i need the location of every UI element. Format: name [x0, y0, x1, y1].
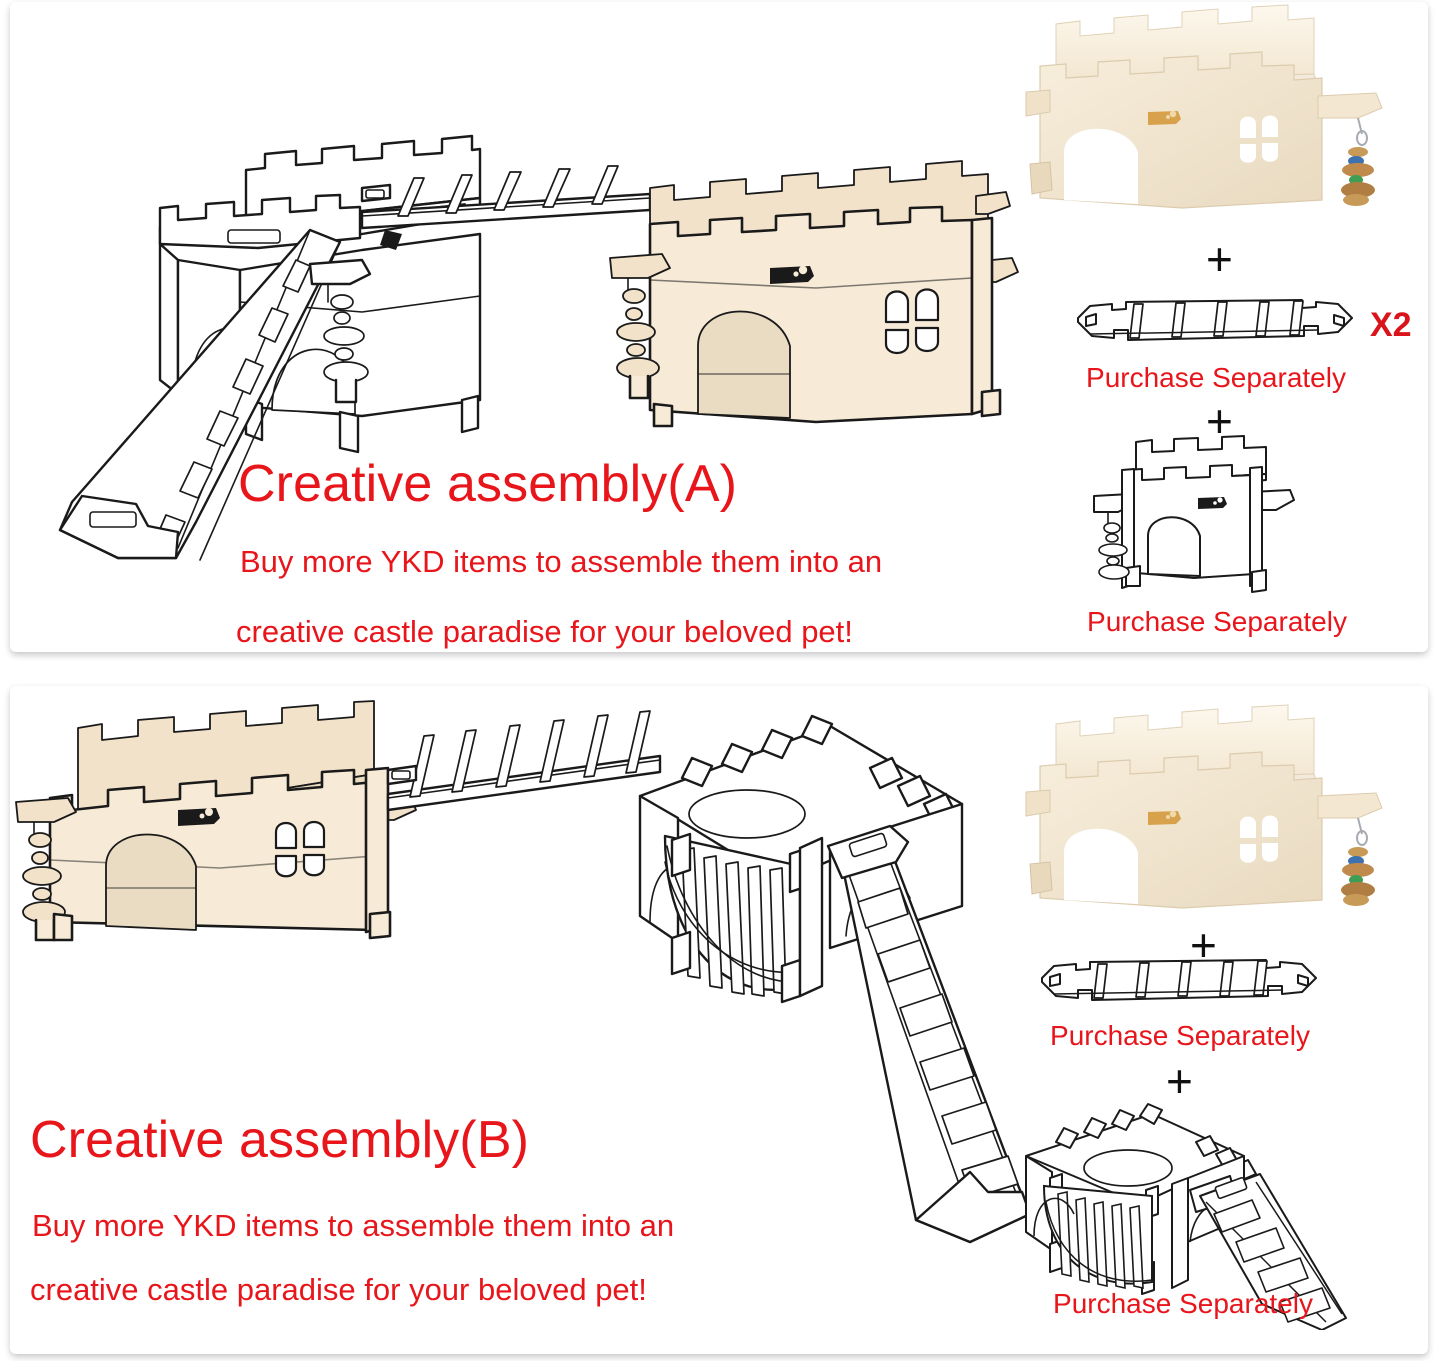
caption-purchase-separately-a-2: Purchase Separately: [1058, 606, 1376, 638]
panel-a-subline-2: creative castle paradise for your belove…: [236, 614, 853, 650]
ykd-logo-stamp-a: [770, 266, 814, 284]
round-tower-platform-b: [640, 716, 1030, 1242]
castle-hideout-photo-a: [1022, 4, 1428, 228]
ykd-logo-stamp-b: [178, 808, 220, 826]
castle-hideout-photo-b: [1022, 704, 1428, 928]
panel-a-headline: Creative assembly(A): [238, 454, 737, 514]
caption-purchase-separately-a-1: Purchase Separately: [1066, 362, 1366, 394]
panel-b-subline-2: creative castle paradise for your belove…: [30, 1272, 647, 1308]
panel-b-subline-1: Buy more YKD items to assemble them into…: [32, 1208, 674, 1244]
castle-hideout-beige-b: [16, 701, 416, 940]
caption-purchase-separately-b-1: Purchase Separately: [1030, 1020, 1330, 1052]
castle-hideout-beige-a: [610, 161, 1018, 426]
bridge-ladder-drawing-a: [1066, 292, 1366, 358]
caption-purchase-separately-b-2: Purchase Separately: [1028, 1288, 1338, 1320]
multiplier-badge-a: X2: [1370, 306, 1412, 345]
plus-symbol-a-1: +: [1206, 236, 1233, 282]
bridge-ladder-b: [388, 711, 660, 810]
panel-b-headline: Creative assembly(B): [30, 1110, 529, 1170]
infographic-page: .ln{fill:none;stroke:#1a1a1a;stroke-widt…: [0, 0, 1445, 1361]
panel-a-subline-1: Buy more YKD items to assemble them into…: [240, 544, 882, 580]
bridge-ladder-drawing-b: [1030, 952, 1330, 1018]
castle-hideout-drawing-a: [1086, 434, 1348, 606]
